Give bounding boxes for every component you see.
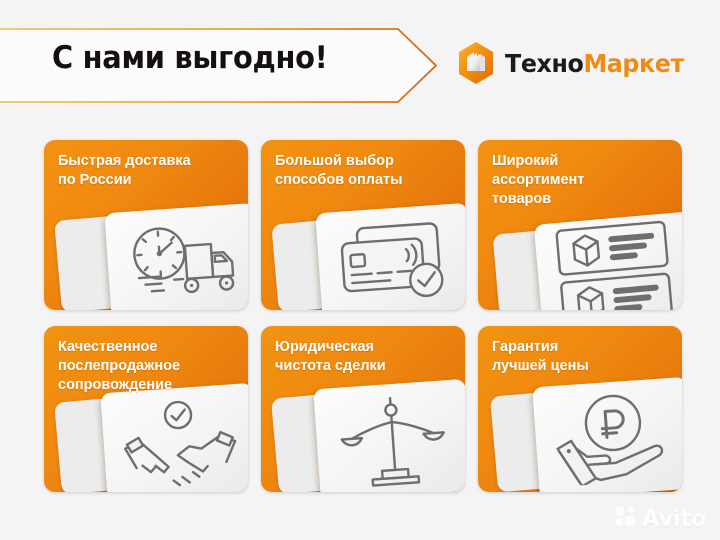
clock-truck-icon [104,203,248,310]
benefit-card-label: Большой выбор способов оплаты [275,152,455,190]
product-list-box-icon [534,211,682,310]
benefit-card-label: Широкий ассортимент товаров [492,152,672,209]
benefits-grid: Быстрая доставка по России [44,140,684,492]
credit-card-check-icon [315,203,465,310]
benefit-card-label: Юридическая чистота сделки [275,338,455,376]
hand-ruble-coin-icon [532,377,682,492]
page-header: С нами выгодно! [0,0,720,128]
benefit-card-fast-delivery[interactable]: Быстрая доставка по России [44,140,248,310]
benefit-card-label: Качественное послепродажное сопровождени… [58,338,238,395]
paper-front-icon-panel [532,377,682,492]
benefit-card-label: Гарантия лучшей цены [492,338,672,376]
handshake-check-icon [100,383,248,492]
paper-front-icon-panel [104,203,248,310]
paper-front-icon-panel [315,203,465,310]
brand-logo-text-part2: Маркет [583,49,683,78]
benefit-card-payment-methods[interactable]: Большой выбор способов оплаты [261,140,465,310]
paper-front-icon-panel [534,211,682,310]
technomarket-hexagon-logo-icon [456,41,496,85]
brand-logo-text-part1: Техно [505,49,583,78]
benefit-card-label: Быстрая доставка по России [58,152,238,190]
paper-front-icon-panel [100,383,248,492]
brand-logo[interactable]: ТехноМаркет [456,41,693,85]
benefit-card-after-sales-support[interactable]: Качественное послепродажное сопровождени… [44,326,248,492]
benefit-card-legal-purity[interactable]: Юридическая чистота сделки [261,326,465,492]
avito-watermark-text: Avito [642,506,706,532]
paper-front-icon-panel [313,379,465,492]
benefit-card-best-price[interactable]: Гарантия лучшей цены [478,326,682,492]
avito-watermark: Avito [614,505,706,532]
scales-of-justice-icon [313,379,465,492]
brand-logo-text: ТехноМаркет [505,49,684,78]
page-title: С нами выгодно! [52,40,328,76]
benefit-card-wide-assortment[interactable]: Широкий ассортимент товаров [478,140,682,310]
avito-dots-icon [614,505,638,532]
